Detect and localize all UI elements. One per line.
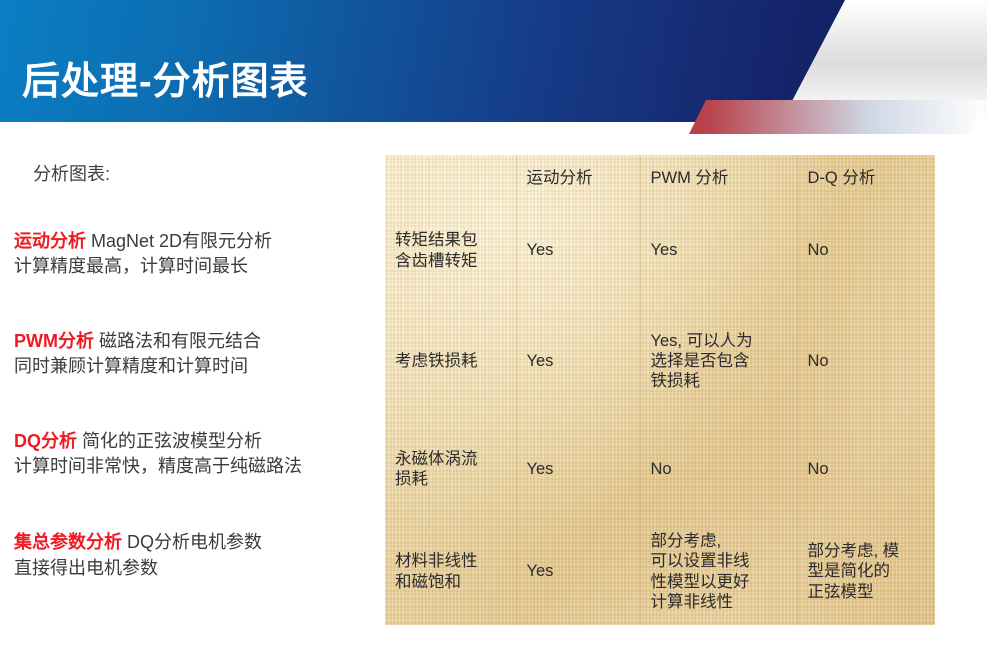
note-item-dq-analysis: DQ分析 简化的正弦波模型分析 计算时间非常快，精度高于纯磁路法 bbox=[14, 429, 378, 479]
note-keyword: DQ分析 bbox=[14, 431, 77, 451]
note-text: 计算精度最高，计算时间最长 bbox=[14, 254, 378, 279]
analysis-comparison-table: 运动分析 PWM 分析 D-Q 分析 转矩结果包 含齿槽转矩 Yes Yes N… bbox=[385, 155, 935, 625]
note-keyword: 集总参数分析 bbox=[14, 532, 122, 552]
row-feature-label: 转矩结果包 含齿槽转矩 bbox=[385, 199, 516, 302]
row-feature-label: 永磁体涡流 损耗 bbox=[385, 420, 516, 518]
left-text-column: 分析图表: 运动分析 MagNet 2D有限元分析 计算精度最高，计算时间最长 … bbox=[0, 150, 378, 581]
note-text: 磁路法和有限元结合 bbox=[94, 331, 261, 351]
intro-label: 分析图表: bbox=[33, 162, 378, 186]
row-feature-label: 材料非线性 和磁饱和 bbox=[385, 518, 516, 625]
table-row: 永磁体涡流 损耗 Yes No No bbox=[385, 420, 935, 518]
header-banner: 后处理-分析图表 bbox=[0, 0, 987, 140]
note-item-pwm-analysis: PWM分析 磁路法和有限元结合 同时兼顾计算精度和计算时间 bbox=[14, 329, 378, 379]
note-text: 直接得出电机参数 bbox=[14, 556, 378, 581]
table-row: 转矩结果包 含齿槽转矩 Yes Yes No bbox=[385, 199, 935, 302]
cell-dq: No bbox=[797, 199, 935, 302]
cell-pwm: Yes, 可以人为 选择是否包含 铁损耗 bbox=[640, 302, 797, 420]
note-text: 同时兼顾计算精度和计算时间 bbox=[14, 354, 378, 379]
cell-dq: No bbox=[797, 420, 935, 518]
page-title: 后处理-分析图表 bbox=[22, 50, 309, 105]
row-feature-label: 考虑铁损耗 bbox=[385, 302, 516, 420]
note-keyword: 运动分析 bbox=[14, 231, 86, 251]
cell-dq: No bbox=[797, 302, 935, 420]
cell-motion: Yes bbox=[516, 420, 640, 518]
cell-pwm: No bbox=[640, 420, 797, 518]
column-header-motion: 运动分析 bbox=[516, 155, 640, 199]
cell-dq: 部分考虑, 模 型是简化的 正弦模型 bbox=[797, 518, 935, 625]
note-text: 简化的正弦波模型分析 bbox=[77, 431, 262, 451]
table-row: 材料非线性 和磁饱和 Yes 部分考虑, 可以设置非线 性模型以更好 计算非线性… bbox=[385, 518, 935, 625]
cell-pwm: 部分考虑, 可以设置非线 性模型以更好 计算非线性 bbox=[640, 518, 797, 625]
table-row: 考虑铁损耗 Yes Yes, 可以人为 选择是否包含 铁损耗 No bbox=[385, 302, 935, 420]
note-item-lumped-parameter-analysis: 集总参数分析 DQ分析电机参数 直接得出电机参数 bbox=[14, 530, 378, 580]
note-keyword: PWM分析 bbox=[14, 331, 94, 351]
note-text: 计算时间非常快，精度高于纯磁路法 bbox=[14, 454, 378, 479]
cell-motion: Yes bbox=[516, 199, 640, 302]
note-text: DQ分析电机参数 bbox=[122, 532, 262, 552]
cell-motion: Yes bbox=[516, 302, 640, 420]
column-header-feature bbox=[385, 155, 516, 199]
note-item-motion-analysis: 运动分析 MagNet 2D有限元分析 计算精度最高，计算时间最长 bbox=[14, 229, 378, 279]
cell-pwm: Yes bbox=[640, 199, 797, 302]
cell-motion: Yes bbox=[516, 518, 640, 625]
table-header-row: 运动分析 PWM 分析 D-Q 分析 bbox=[385, 155, 935, 199]
column-header-pwm: PWM 分析 bbox=[640, 155, 797, 199]
column-header-dq: D-Q 分析 bbox=[797, 155, 935, 199]
note-text: MagNet 2D有限元分析 bbox=[86, 231, 272, 251]
